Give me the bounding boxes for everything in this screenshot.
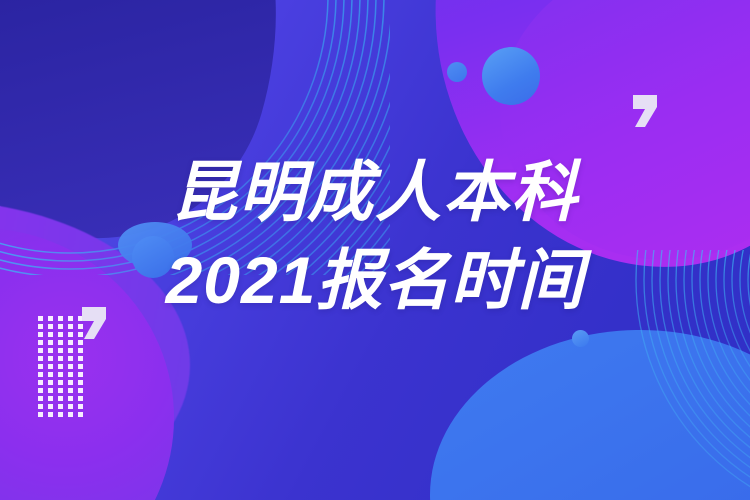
blue-circle-small-decor — [447, 62, 467, 82]
dot-grid-decor — [38, 316, 83, 417]
headline-line-2: 2021报名时间 — [0, 236, 750, 324]
headline-line-1: 昆明成人本科 — [0, 148, 750, 236]
promo-banner: 昆明成人本科 2021报名时间 — [0, 0, 750, 500]
quote-close-icon — [631, 93, 661, 131]
blue-circle-large-decor — [482, 47, 540, 105]
banner-headline: 昆明成人本科 2021报名时间 — [0, 148, 750, 324]
blue-circle-tiny-decor — [572, 330, 589, 347]
